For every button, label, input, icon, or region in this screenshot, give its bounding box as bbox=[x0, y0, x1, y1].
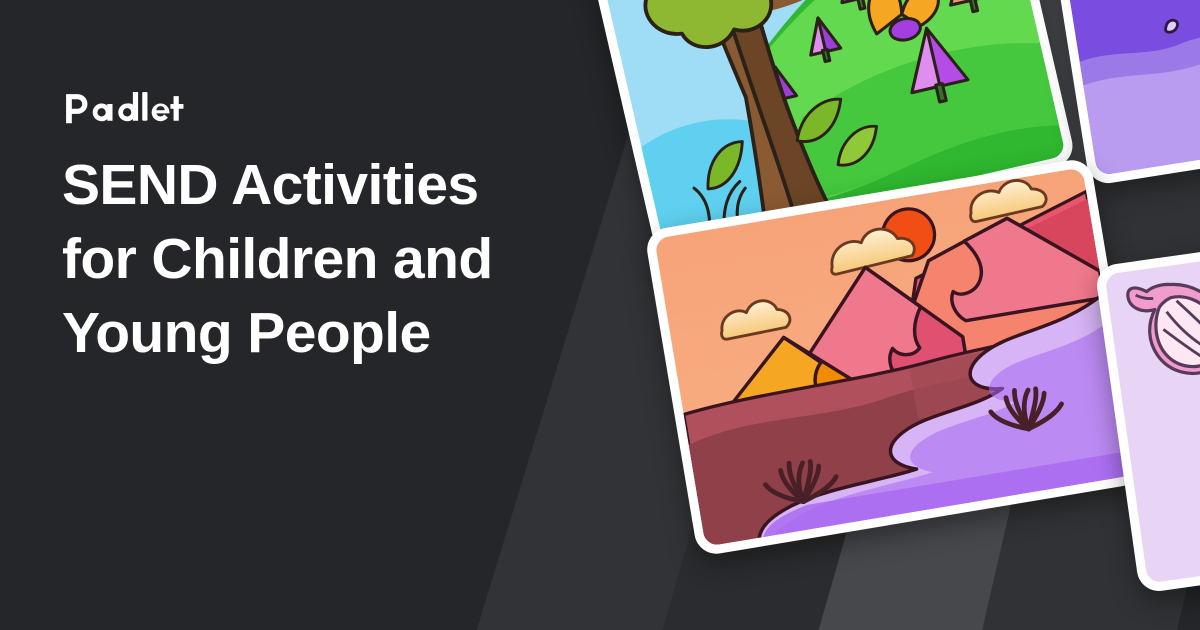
page-title-line-3: Young People bbox=[62, 296, 582, 370]
page-title: SEND Activities for Children and Young P… bbox=[62, 148, 582, 370]
desert-mountains-illustration bbox=[654, 167, 1134, 546]
share-card-canvas: SEND Activities for Children and Young P… bbox=[0, 0, 1200, 630]
card-desert-image bbox=[654, 167, 1134, 546]
padlet-logo bbox=[64, 92, 184, 124]
padlet-wordmark-icon bbox=[64, 92, 184, 124]
page-title-line-2: for Children and bbox=[62, 222, 582, 296]
page-title-line-1: SEND Activities bbox=[62, 148, 582, 222]
